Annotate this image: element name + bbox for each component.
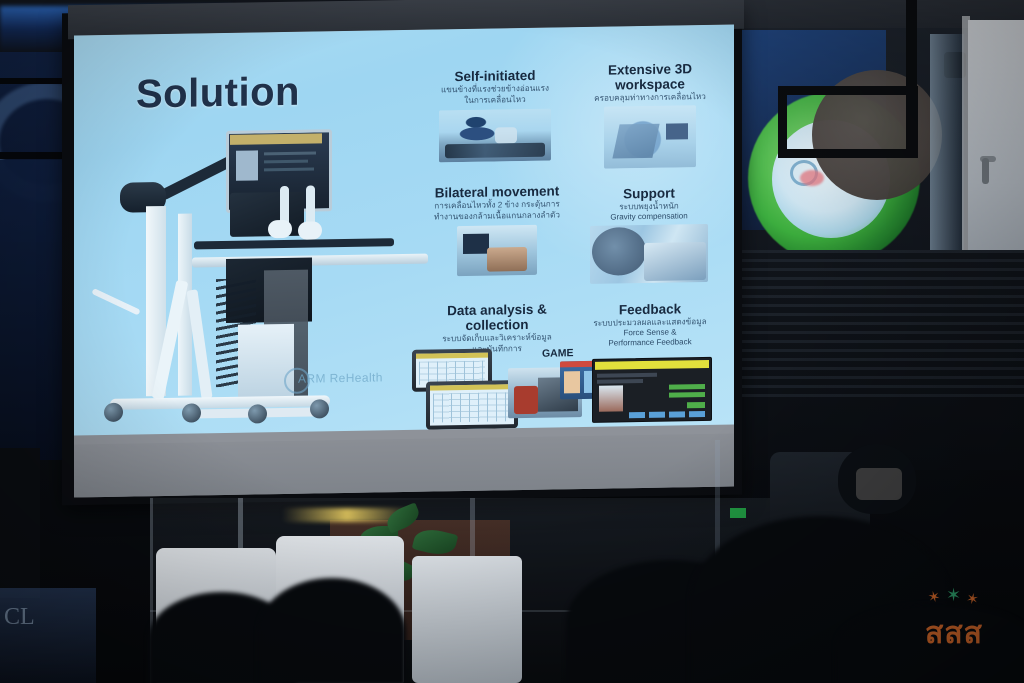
plant-leaf: [412, 525, 459, 558]
feature-extensive-3d-workspace: Extensive 3D workspace ครอบคลุมท่าทางการ…: [590, 61, 710, 169]
tablet-data-grid: [433, 392, 511, 422]
device-caster-wheel: [310, 399, 329, 418]
feedback-button: [629, 412, 645, 418]
feature-thai-line-1: ระบบประมวลผลและแสดงข้อมูล: [584, 317, 716, 329]
page-title: Solution: [136, 70, 300, 118]
feature-thai-line-1: ระบบพยุงน้ำหนัก: [586, 201, 712, 213]
left-window-glow: [0, 588, 96, 683]
feature-heading: Feedback: [584, 301, 716, 318]
green-sign-dot: [800, 170, 824, 186]
feedback-button: [689, 411, 705, 417]
screen-blank-area: [74, 434, 734, 498]
feedback-patient-thumbnail: [599, 385, 623, 411]
device-monitor-thumbnail: [236, 150, 258, 180]
feature-image-self-initiated: [439, 108, 551, 162]
feature-heading: Self-initiated: [430, 67, 560, 84]
feature-support: Support ระบบพยุงน้ำหนัก Gravity compensa…: [586, 185, 712, 284]
black-frame-vertical-post: [906, 0, 917, 152]
tablet-header-bar: [416, 353, 488, 359]
window-blinds: [726, 250, 1024, 400]
feature-heading: Extensive 3D workspace: [590, 61, 710, 93]
thaihealth-watermark: ✶ ✶ ✶ สสส: [906, 588, 1002, 650]
chair-cover-right: [412, 556, 522, 683]
device-caster-wheel: [104, 403, 123, 422]
feature-heading: Support: [586, 185, 712, 202]
door-handle-icon[interactable]: [982, 158, 989, 184]
feedback-form-row: [597, 373, 657, 378]
thaihealth-logo-text: สสส: [906, 610, 1002, 657]
screenshot-root: Solution: [0, 0, 1024, 683]
feedback-button: [669, 411, 685, 417]
feature-english-sub-2: Performance Feedback: [584, 337, 716, 349]
feedback-action-chip: [687, 402, 705, 408]
device-caster-wheel: [248, 404, 267, 423]
tablet-header-bar: [430, 384, 514, 390]
feature-thai-line-2: ในการเคลื่อนไหว: [430, 95, 560, 107]
feedback-button: [649, 412, 665, 418]
feature-image-bilateral: [457, 224, 537, 275]
feature-thai-line-2: ทำงานของกล้ามเนื้อแกนกลางลำตัว: [432, 211, 562, 223]
feature-bilateral-movement: Bilateral movement การเคลื่อนไหวทั้ง 2 ข…: [432, 183, 562, 276]
feature-english-sub-1: Gravity compensation: [586, 211, 712, 223]
left-dark-panel: [0, 448, 40, 598]
device-monitor-titlebar: [230, 133, 322, 145]
device-caster-wheel: [182, 403, 201, 422]
feature-image-3d-workspace: [604, 106, 696, 170]
black-frame-rectangle: [778, 86, 918, 158]
star-figure-icon: ✶: [926, 589, 942, 607]
projection-screen-surface: Solution: [74, 25, 734, 498]
feedback-form-row: [597, 379, 643, 384]
game-figure-1: [564, 371, 580, 393]
feedback-status-bar: [669, 384, 705, 390]
star-figure-icon: ✶: [965, 591, 980, 608]
feature-heading: Bilateral movement: [432, 183, 562, 200]
plant-leaf: [383, 502, 422, 533]
audience-silhouette-2: [258, 578, 406, 683]
audience-member-face-mask: [856, 468, 902, 500]
feedback-software-screenshot: [592, 357, 712, 423]
wall-sign-text: CL: [4, 604, 35, 631]
feedback-status-bar: [669, 392, 705, 398]
star-figure-icon: ✶: [946, 586, 961, 604]
device-laptop: [230, 192, 304, 237]
game-label: GAME: [542, 347, 574, 360]
data-analysis-tablet-2: [426, 380, 518, 430]
device-grip-left: [268, 220, 292, 238]
device-stabilizer-bar: [91, 288, 140, 315]
feature-feedback: Feedback ระบบประมวลผลและแสดงข้อมูล Force…: [584, 301, 716, 350]
device-upper-rail: [194, 238, 394, 249]
device-grip-right: [298, 221, 322, 239]
arm-rehealth-logo-text: ARM ReHealth: [298, 370, 383, 385]
device-photo: ARM ReHealth: [98, 126, 428, 431]
exit-sign: [730, 508, 746, 518]
feature-self-initiated: Self-initiated แขนข้างที่แรงช่วยข้างอ่อน…: [430, 67, 560, 162]
presentation-slide: Solution: [74, 25, 734, 436]
tablet-screen: [430, 384, 514, 425]
feature-thai-line-1: แขนข้างที่แรงช่วยข้างอ่อนแรง: [430, 84, 560, 96]
feature-image-support: [590, 224, 708, 284]
feedback-app-titlebar: [595, 360, 709, 370]
feature-heading: Data analysis & collection: [422, 301, 572, 334]
feature-thai-line-1: ครอบคลุมท่าทางการเคลื่อนไหว: [590, 92, 710, 104]
